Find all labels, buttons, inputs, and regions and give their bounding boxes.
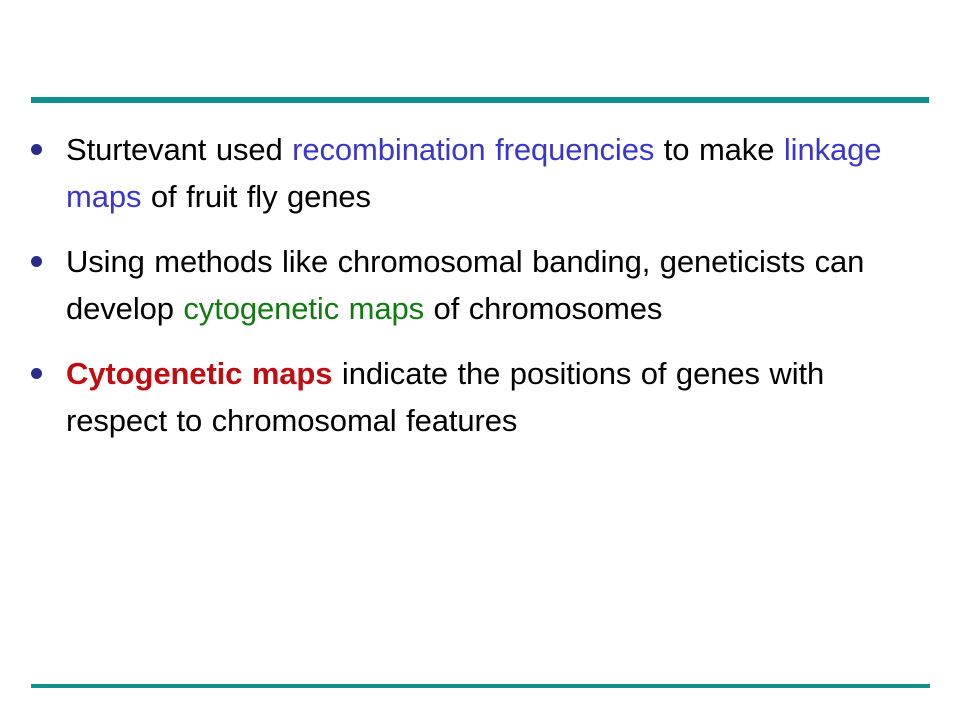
bullet-1-segment-0: Sturtevant used	[66, 132, 292, 167]
bullet-dot-icon	[31, 256, 42, 267]
list-item: Using methods like chromosomal banding, …	[28, 238, 918, 332]
bullet-dot-icon	[31, 144, 42, 155]
bullet-1-segment-2: to make	[654, 132, 784, 167]
bullet-2-segment-1: cytogenetic maps	[183, 291, 424, 326]
list-item: Sturtevant used recombination frequencie…	[28, 126, 918, 220]
slide-canvas: Sturtevant used recombination frequencie…	[0, 0, 960, 720]
top-divider-rule	[31, 97, 929, 103]
bullet-3-segment-0: Cytogenetic maps	[66, 356, 332, 391]
bullet-2-segment-2: of chromosomes	[424, 291, 662, 326]
slide-body-content: Sturtevant used recombination frequencie…	[28, 126, 918, 444]
bullet-dot-icon	[31, 368, 42, 379]
bullet-1-segment-1: recombination frequencies	[292, 132, 654, 167]
bottom-divider-rule	[31, 684, 930, 688]
list-item: Cytogenetic maps indicate the positions …	[28, 350, 918, 444]
bullet-1-segment-4: of fruit fly genes	[141, 179, 371, 214]
